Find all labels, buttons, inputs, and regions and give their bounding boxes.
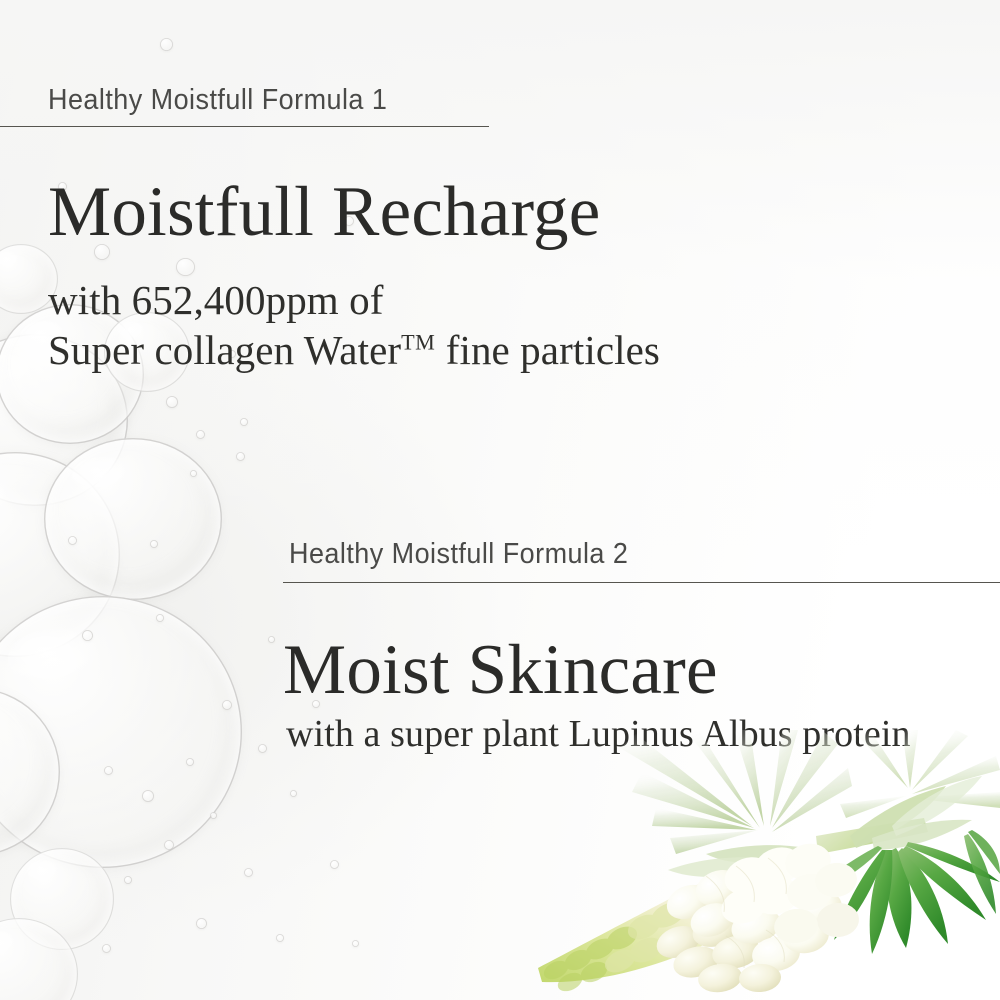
water-bubbles-graphic [0, 0, 430, 1000]
lupine-flower-illustration [520, 730, 1000, 1000]
stem-sheath-leaves [850, 776, 982, 850]
section-1-kicker: Healthy Moistfull Formula 1 [48, 84, 387, 117]
section-2-headline: Moist Skincare [283, 630, 718, 711]
section-1-subline-prefix: Super collagen Water [48, 327, 401, 373]
section-2-divider [283, 582, 1000, 583]
pale-palmate-leaf [620, 730, 852, 854]
section-1-subline-suffix: fine particles [435, 327, 660, 373]
lupine-flower-graphic [520, 730, 1000, 1000]
section-1-subline-first: with 652,400ppm of [48, 276, 384, 324]
section-2-kicker: Healthy Moistfull Formula 2 [289, 538, 628, 571]
trademark-symbol: TM [401, 329, 435, 354]
product-detail-banner: Healthy Moistfull Formula 1 Moistfull Re… [0, 0, 1000, 1000]
section-1-headline: Moistfull Recharge [48, 172, 600, 253]
section-1-subline-second: Super collagen WaterTM fine particles [48, 326, 660, 374]
section-1-divider [0, 126, 489, 127]
